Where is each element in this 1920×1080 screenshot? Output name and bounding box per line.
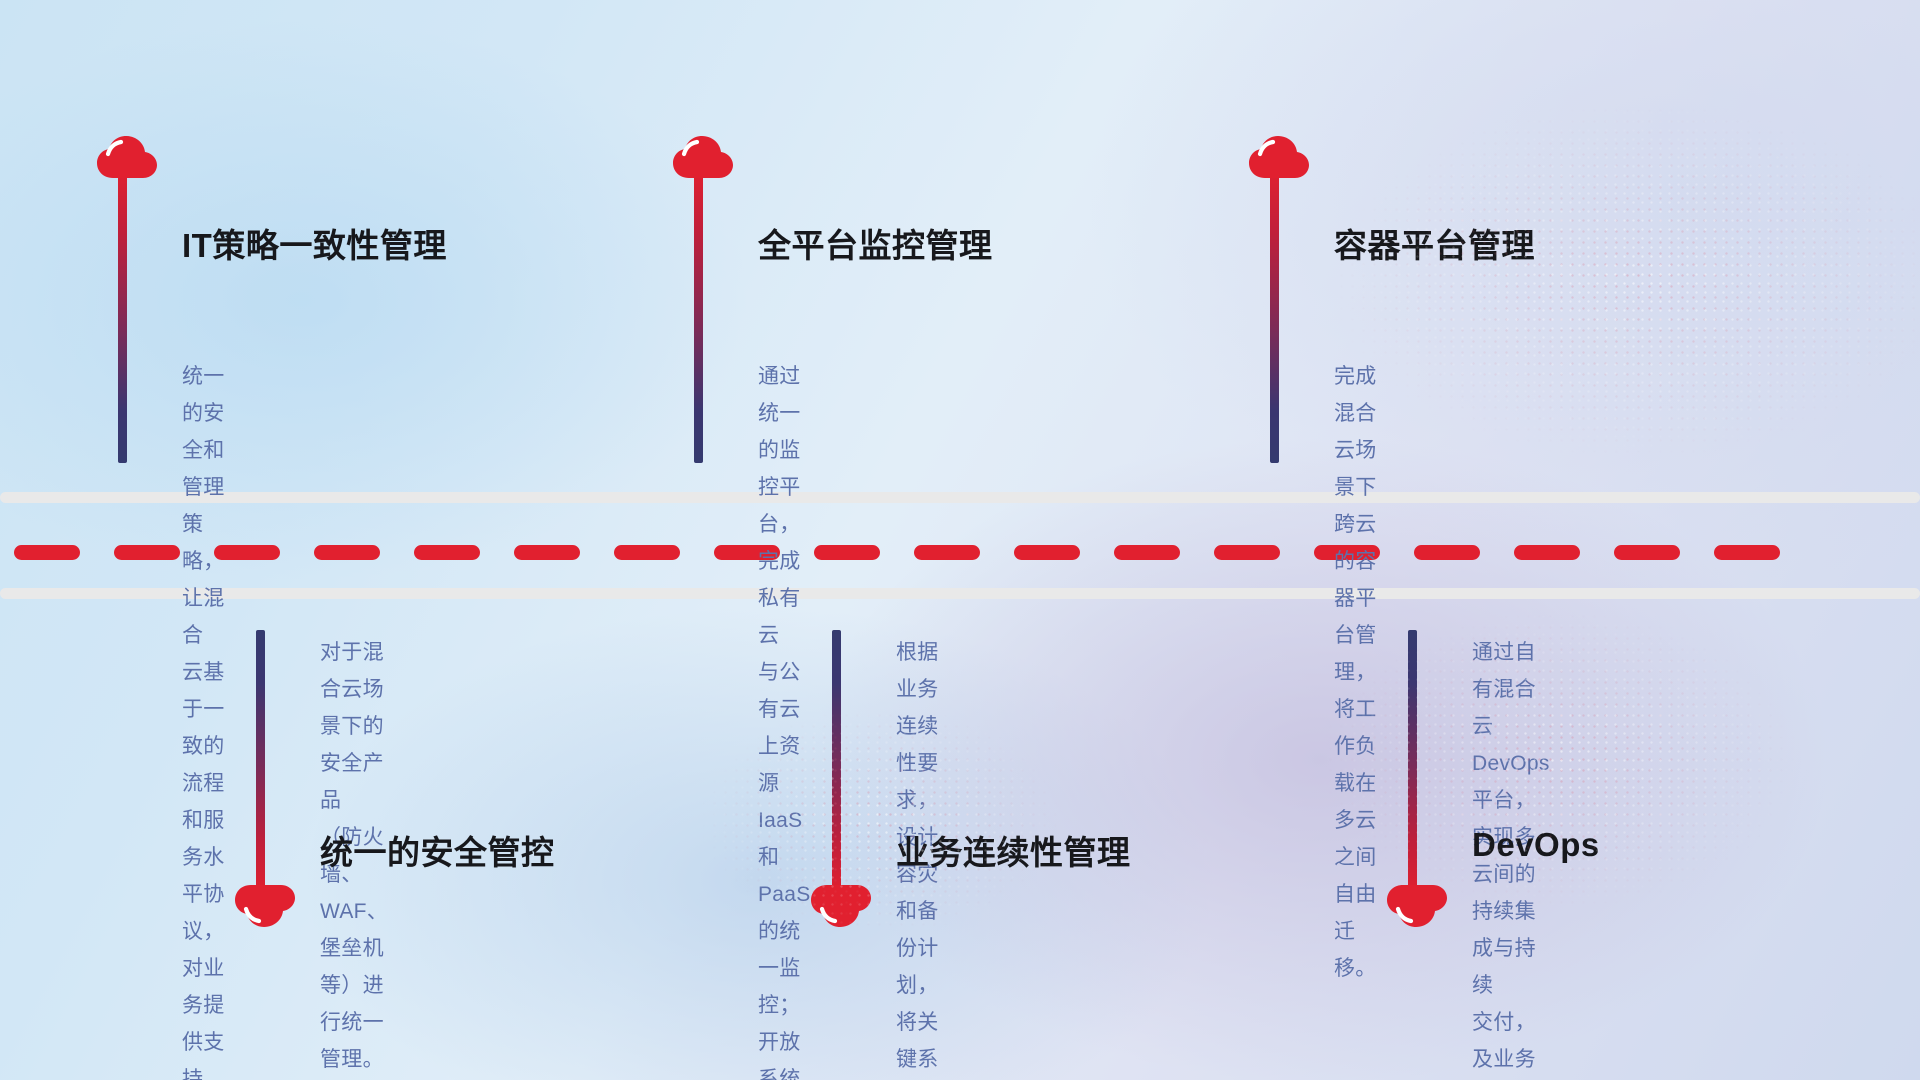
road-dash: [14, 545, 80, 560]
road-dash: [1614, 545, 1680, 560]
road-dash: [314, 545, 380, 560]
feature-title: 业务连续性管理: [896, 826, 1131, 874]
road-dash: [114, 545, 180, 560]
cloud-pin-icon: [1248, 135, 1310, 179]
feature-title: 统一的安全管控: [320, 826, 555, 874]
road-dash: [1014, 545, 1080, 560]
road-dash: [514, 545, 580, 560]
road-dash: [414, 545, 480, 560]
pin-stem: [1270, 168, 1279, 463]
cloud-pin-icon: [672, 135, 734, 179]
road-dash: [914, 545, 980, 560]
feature-body: 完成混合云场景下跨云的容器平 台管理，将工作负载在多云之间 自由迁移。: [1334, 358, 1377, 987]
pin-stem: [694, 168, 703, 463]
feature-body: 统一的安全和管理策略，让混合 云基于一致的流程和服务水平协 议，对业务提供支持。: [182, 358, 225, 1080]
cloud-pin-icon: [234, 884, 296, 928]
feature-title: DevOps: [1472, 826, 1600, 864]
road-dash: [814, 545, 880, 560]
pin-stem: [1408, 630, 1417, 895]
cloud-pin-icon: [1386, 884, 1448, 928]
pin-stem: [256, 630, 265, 895]
feature-body: 通过统一的监控平台，完成私有云 与公有云上资源IaaS和PaaS的统 一监控；开…: [758, 358, 811, 1080]
road-dash: [1514, 545, 1580, 560]
road-dash: [1214, 545, 1280, 560]
pin-stem: [118, 168, 127, 463]
pin-stem: [832, 630, 841, 895]
infographic-canvas: IT策略一致性管理 统一的安全和管理策略，让混合 云基于一致的流程和服务水平协 …: [0, 0, 1920, 1080]
road-dash: [1414, 545, 1480, 560]
road-center-dashed-line: [0, 545, 1920, 560]
road-edge-line-bottom: [0, 588, 1920, 599]
feature-title: IT策略一致性管理: [182, 219, 447, 267]
road-dash: [1114, 545, 1180, 560]
feature-title: 全平台监控管理: [758, 219, 993, 267]
feature-title: 容器平台管理: [1334, 219, 1535, 267]
road-edge-line-top: [0, 492, 1920, 503]
cloud-pin-icon: [810, 884, 872, 928]
road-dash: [614, 545, 680, 560]
road-dash: [1714, 545, 1780, 560]
cloud-pin-icon: [96, 135, 158, 179]
